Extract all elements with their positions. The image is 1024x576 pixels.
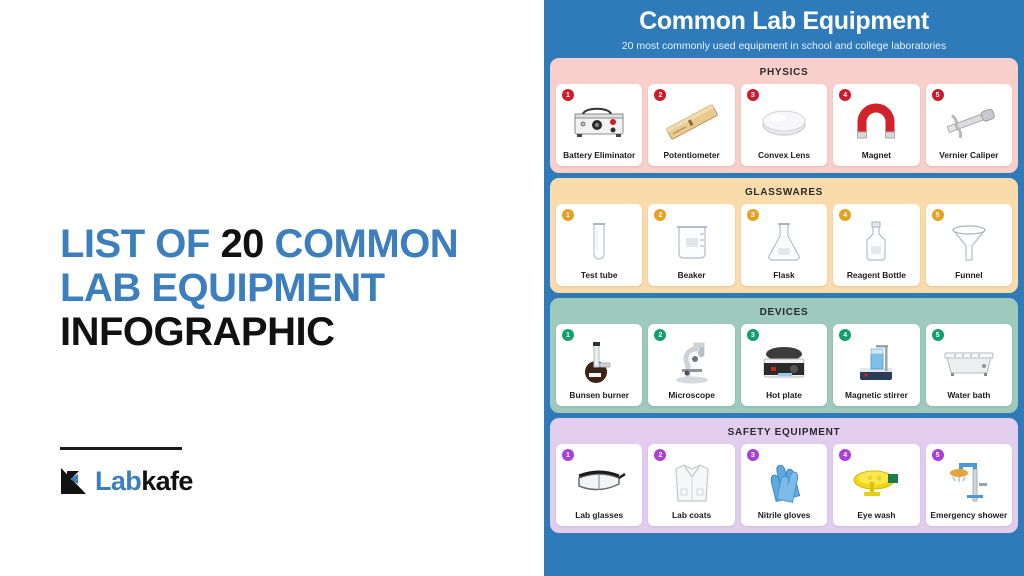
card-label: Eye wash — [855, 511, 897, 526]
card-label: Vernier Caliper — [937, 151, 1000, 166]
equipment-card[interactable]: 4Magnet — [833, 84, 919, 166]
card-label: Water bath — [945, 391, 992, 406]
title-line2: LAB EQUIPMENT — [60, 266, 385, 310]
equipment-card[interactable]: 4Magnetic stirrer — [833, 324, 919, 406]
card-row: 1Test tube2Beaker3Flask4Reagent Bottle5F… — [556, 204, 1012, 286]
card-label: Beaker — [676, 271, 708, 286]
equipment-card[interactable]: 2Potentiometer — [648, 84, 734, 166]
card-row: 1Bunsen burner2Microscope3Hot plate4Magn… — [556, 324, 1012, 406]
card-label: Magnetic stirrer — [843, 391, 910, 406]
card-label: Emergency shower — [928, 511, 1009, 526]
card-label: Potentiometer — [661, 151, 721, 166]
infographic-header: Common Lab Equipment 20 most commonly us… — [544, 0, 1024, 58]
cover-panel: LIST OF 20 COMMON LAB EQUIPMENT INFOGRAP… — [0, 0, 544, 576]
section-title: PHYSICS — [556, 63, 1012, 84]
equipment-card[interactable]: 3Convex Lens — [741, 84, 827, 166]
title-part-a: LIST OF — [60, 222, 220, 266]
card-number-badge: 3 — [747, 89, 759, 101]
equipment-card[interactable]: 1Lab glasses — [556, 444, 642, 526]
card-row: 1Battery Eliminator2Potentiometer3Convex… — [556, 84, 1012, 166]
card-number-badge: 3 — [747, 329, 759, 341]
sections-container: PHYSICS1Battery Eliminator2Potentiometer… — [544, 58, 1024, 543]
card-number-badge: 5 — [932, 449, 944, 461]
equipment-card[interactable]: 1Battery Eliminator — [556, 84, 642, 166]
infographic-title: Common Lab Equipment — [544, 8, 1024, 36]
equipment-card[interactable]: 3Hot plate — [741, 324, 827, 406]
equipment-card[interactable]: 4Reagent Bottle — [833, 204, 919, 286]
card-label: Bunsen burner — [567, 391, 631, 406]
card-row: 1Lab glasses2Lab coats3Nitrile gloves4Ey… — [556, 444, 1012, 526]
equipment-card[interactable]: 1Test tube — [556, 204, 642, 286]
card-number-badge: 1 — [562, 209, 574, 221]
card-label: Convex Lens — [756, 151, 812, 166]
card-label: Flask — [771, 271, 796, 286]
divider-rule — [60, 447, 182, 450]
card-label: Lab coats — [670, 511, 713, 526]
card-label: Microscope — [666, 391, 717, 406]
section-safety-equipment: SAFETY EQUIPMENT1Lab glasses2Lab coats3N… — [550, 418, 1018, 533]
infographic-subtitle: 20 most commonly used equipment in schoo… — [544, 40, 1024, 53]
title-part-b: COMMON — [264, 222, 458, 266]
title-count: 20 — [220, 222, 264, 266]
title-line3: INFOGRAPHIC — [60, 310, 335, 354]
card-label: Magnet — [860, 151, 893, 166]
infographic-panel: Common Lab Equipment 20 most commonly us… — [544, 0, 1024, 576]
labkafe-logo: Labkafe — [58, 466, 193, 496]
card-number-badge: 3 — [747, 209, 759, 221]
card-label: Reagent Bottle — [845, 271, 908, 286]
card-number-badge: 1 — [562, 89, 574, 101]
equipment-card[interactable]: 2Beaker — [648, 204, 734, 286]
section-title: SAFETY EQUIPMENT — [556, 423, 1012, 444]
section-title: GLASSWARES — [556, 183, 1012, 204]
equipment-card[interactable]: 3Nitrile gloves — [741, 444, 827, 526]
card-number-badge: 1 — [562, 449, 574, 461]
equipment-card[interactable]: 4Eye wash — [833, 444, 919, 526]
equipment-card[interactable]: 2Microscope — [648, 324, 734, 406]
equipment-card[interactable]: 1Bunsen burner — [556, 324, 642, 406]
card-number-badge: 5 — [932, 89, 944, 101]
section-devices: DEVICES1Bunsen burner2Microscope3Hot pla… — [550, 298, 1018, 413]
card-number-badge: 5 — [932, 209, 944, 221]
section-glasswares: GLASSWARES1Test tube2Beaker3Flask4Reagen… — [550, 178, 1018, 293]
equipment-card[interactable]: 2Lab coats — [648, 444, 734, 526]
page-title: LIST OF 20 COMMON LAB EQUIPMENT INFOGRAP… — [60, 222, 510, 354]
card-label: Test tube — [579, 271, 620, 286]
equipment-card[interactable]: 5Emergency shower — [926, 444, 1012, 526]
card-number-badge: 3 — [747, 449, 759, 461]
card-label: Lab glasses — [573, 511, 625, 526]
card-number-badge: 1 — [562, 329, 574, 341]
card-label: Hot plate — [764, 391, 804, 406]
section-title: DEVICES — [556, 303, 1012, 324]
logo-word-kafe: kafe — [141, 466, 193, 496]
labkafe-logo-mark-icon — [58, 466, 88, 496]
card-label: Nitrile gloves — [756, 511, 813, 526]
logo-wordmark: Labkafe — [95, 468, 193, 495]
logo-word-lab: Lab — [95, 466, 141, 496]
card-label: Funnel — [953, 271, 984, 286]
equipment-card[interactable]: 3Flask — [741, 204, 827, 286]
equipment-card[interactable]: 5Vernier Caliper — [926, 84, 1012, 166]
section-physics: PHYSICS1Battery Eliminator2Potentiometer… — [550, 58, 1018, 173]
infographic-page: LIST OF 20 COMMON LAB EQUIPMENT INFOGRAP… — [0, 0, 1024, 576]
card-number-badge: 5 — [932, 329, 944, 341]
card-label: Battery Eliminator — [561, 151, 637, 166]
equipment-card[interactable]: 5Water bath — [926, 324, 1012, 406]
equipment-card[interactable]: 5Funnel — [926, 204, 1012, 286]
